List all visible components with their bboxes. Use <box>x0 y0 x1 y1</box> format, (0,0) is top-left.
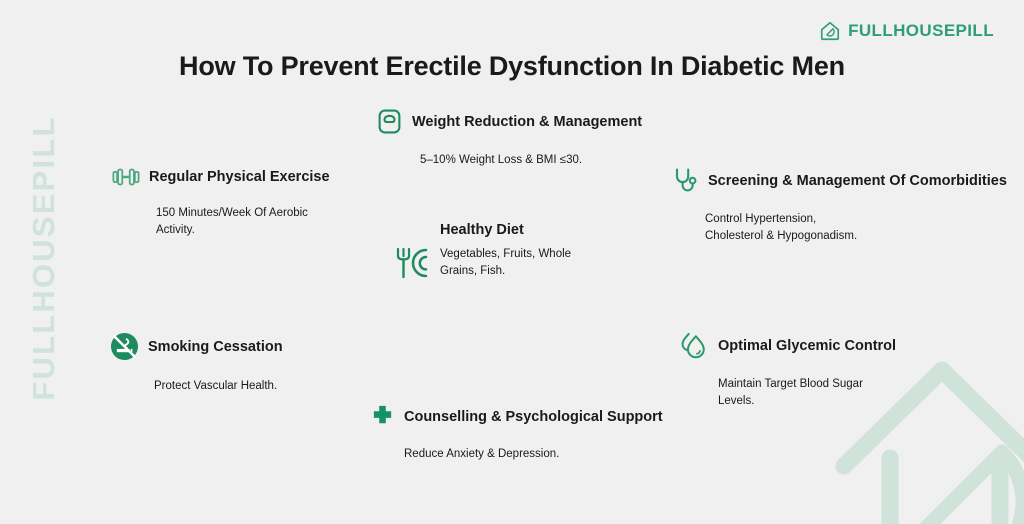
medical-cross-icon <box>370 404 395 429</box>
item-title: Optimal Glycemic Control <box>718 338 896 354</box>
item-description: Vegetables, Fruits, Whole Grains, Fish. <box>440 246 600 279</box>
item-healthy-diet: Healthy Diet Vegetables, Fruits, Whole G… <box>394 222 600 279</box>
item-title: Smoking Cessation <box>148 339 283 355</box>
page-title: How To Prevent Erectile Dysfunction In D… <box>0 51 1024 82</box>
stethoscope-icon <box>673 167 699 194</box>
item-description: Maintain Target Blood Sugar Levels. <box>718 376 898 409</box>
infographic-canvas: FULLHOUSEPILL FULLHOUSEPILL How To Preve… <box>0 0 1024 524</box>
item-header: Optimal Glycemic Control <box>680 332 898 359</box>
fork-spoon-icon <box>394 247 432 279</box>
item-title: Counselling & Psychological Support <box>404 409 663 425</box>
brand-logo[interactable]: FULLHOUSEPILL <box>819 20 994 42</box>
item-optimal-glycemic-control: Optimal Glycemic Control Maintain Target… <box>680 332 898 409</box>
house-leaf-icon <box>819 20 841 42</box>
vertical-watermark: FULLHOUSEPILL <box>26 115 62 400</box>
item-header: Weight Reduction & Management <box>376 108 642 135</box>
item-description: Reduce Anxiety & Depression. <box>404 446 663 463</box>
weight-scale-icon <box>376 108 403 135</box>
item-title: Screening & Management Of Comorbidities <box>708 173 1007 189</box>
item-screening-comorbidities: Screening & Management Of Comorbidities … <box>673 167 1007 244</box>
item-counselling-support: Counselling & Psychological Support Redu… <box>370 404 663 463</box>
brand-name: FULLHOUSEPILL <box>848 21 994 41</box>
blood-drops-icon <box>680 332 709 359</box>
item-description: Control Hypertension, Cholesterol & Hypo… <box>705 211 1007 244</box>
no-smoking-icon <box>110 332 139 361</box>
item-smoking-cessation: Smoking Cessation Protect Vascular Healt… <box>110 332 283 395</box>
item-header: Counselling & Psychological Support <box>370 404 663 429</box>
item-title: Regular Physical Exercise <box>149 169 330 185</box>
item-title: Weight Reduction & Management <box>412 114 642 130</box>
dumbbell-icon <box>112 166 140 188</box>
item-description: 150 Minutes/Week Of Aerobic Activity. <box>156 205 336 238</box>
item-header: Smoking Cessation <box>110 332 283 361</box>
item-weight-reduction: Weight Reduction & Management 5–10% Weig… <box>376 108 642 169</box>
item-description: Protect Vascular Health. <box>154 378 283 395</box>
item-header: Regular Physical Exercise <box>112 166 336 188</box>
item-title: Healthy Diet <box>440 222 600 238</box>
item-header: Screening & Management Of Comorbidities <box>673 167 1007 194</box>
item-regular-physical-exercise: Regular Physical Exercise 150 Minutes/We… <box>112 166 336 238</box>
item-body: Vegetables, Fruits, Whole Grains, Fish. <box>394 246 600 279</box>
item-description: 5–10% Weight Loss & BMI ≤30. <box>420 152 642 169</box>
